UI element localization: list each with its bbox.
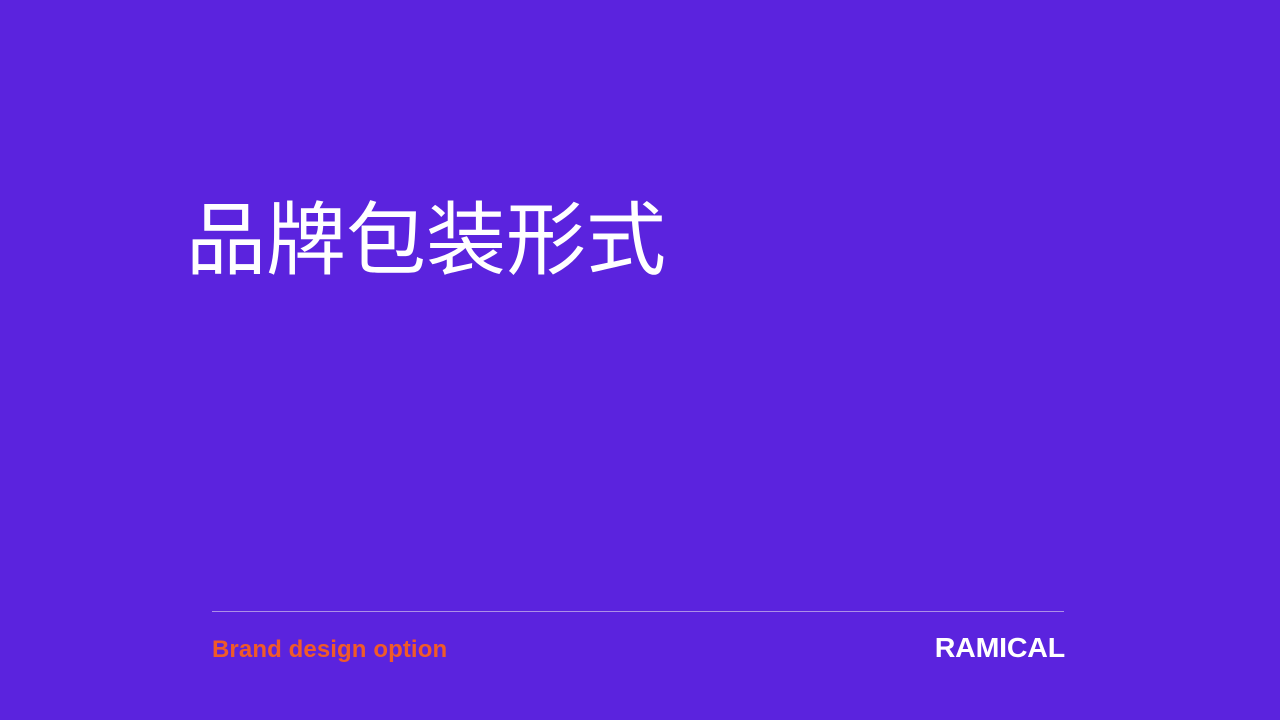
footer-row: Brand design option RAMICAL (212, 634, 1064, 662)
footer-divider (212, 611, 1064, 612)
footer-caption: Brand design option (212, 638, 447, 662)
brand-logo-wordmark: RAMICAL (935, 634, 1065, 662)
slide-footer: Brand design option RAMICAL (212, 611, 1064, 662)
slide-headline: 品牌包装形式 (186, 196, 1086, 286)
slide-canvas: 品牌包装形式 Brand design option RAMICAL (0, 0, 1280, 720)
